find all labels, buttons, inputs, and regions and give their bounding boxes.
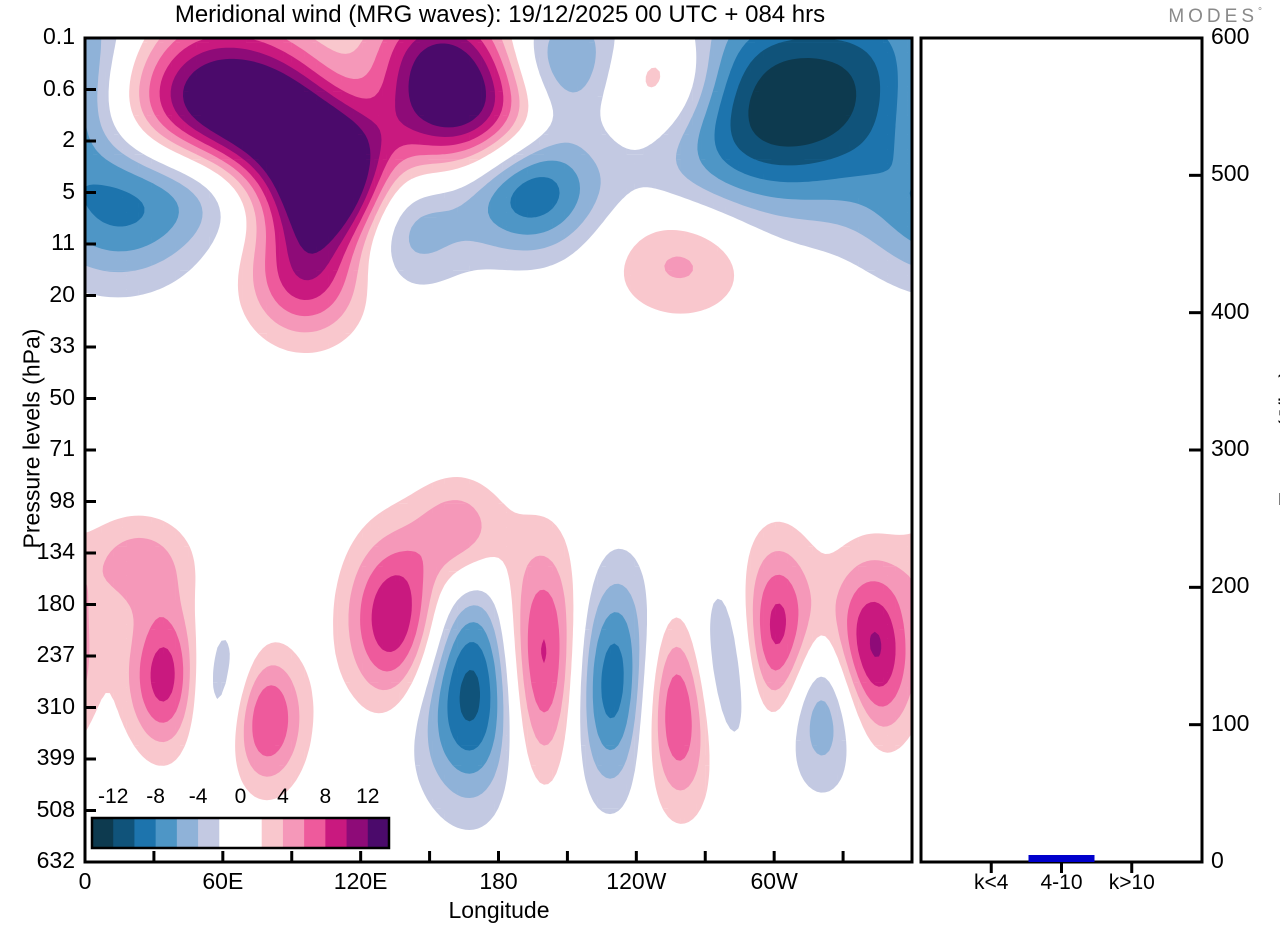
x-tick-label: 60W [704,868,844,895]
y-tick-label: 237 [0,641,75,668]
contour-field [85,38,912,830]
x-tick-label: 0 [15,868,155,895]
x-axis-ticks [85,851,912,862]
energy-tick-label: 100 [1211,710,1280,737]
y-axis-ticks-right [1189,38,1202,862]
y-tick-label: 0.6 [0,75,75,102]
energy-tick-label: 200 [1211,572,1280,599]
y-tick-label: 134 [0,538,75,565]
y-tick-label: 33 [0,332,75,359]
colorbar [92,818,390,848]
x-tick-label: 120W [566,868,706,895]
x-tick-label: 60E [153,868,293,895]
figure-root: Meridional wind (MRG waves): 19/12/2025 … [0,0,1280,930]
x-tick-label: 120E [291,868,431,895]
energy-bars [1029,855,1095,862]
bar-category-label: k>10 [1062,871,1202,895]
y-tick-label: 5 [0,178,75,205]
y-tick-label: 180 [0,590,75,617]
y-tick-label: 98 [0,487,75,514]
energy-tick-label: 0 [1211,847,1280,874]
x-tick-label: 180 [429,868,569,895]
y-tick-label: 310 [0,693,75,720]
y-tick-label: 0.1 [0,23,75,50]
y-tick-label: 11 [0,229,75,256]
y-tick-label: 71 [0,435,75,462]
y-tick-label: 2 [0,126,75,153]
y-tick-label: 20 [0,281,75,308]
energy-bar [1029,855,1095,862]
energy-tick-label: 300 [1211,435,1280,462]
energy-tick-label: 500 [1211,160,1280,187]
energy-tick-label: 600 [1211,23,1280,50]
y-tick-label: 399 [0,744,75,771]
y-tick-label: 50 [0,384,75,411]
energy-tick-label: 400 [1211,298,1280,325]
colorbar-tick-label: 12 [318,785,418,809]
